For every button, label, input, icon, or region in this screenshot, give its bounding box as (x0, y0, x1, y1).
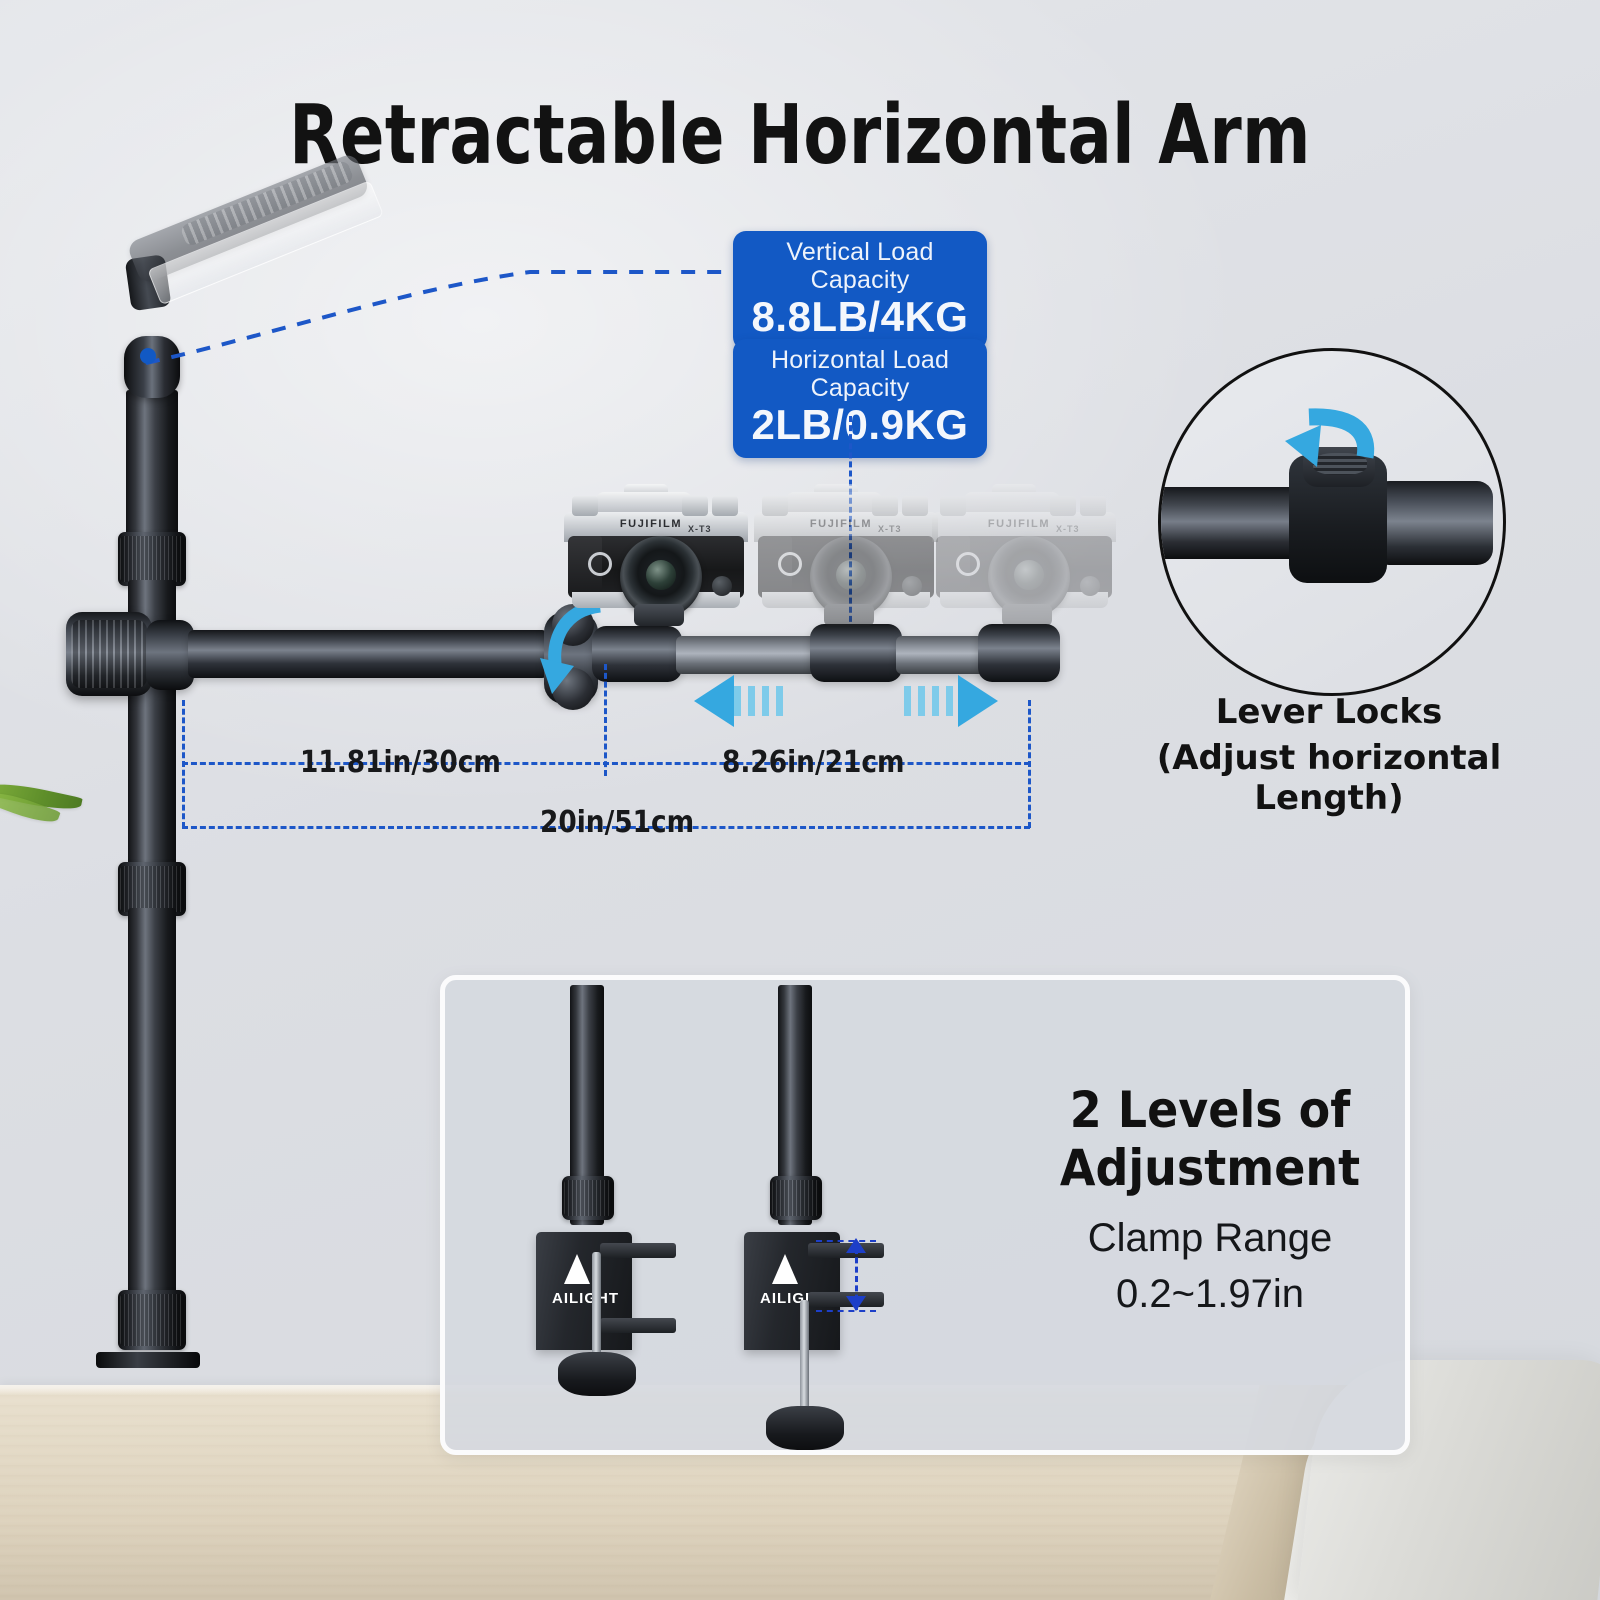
ailight-logo-icon (564, 1254, 590, 1284)
camera-brand-label: FUJIFILM (608, 518, 694, 530)
clamp-range-arrow-down-icon (846, 1296, 866, 1311)
badge-label: Horizontal Load Capacity (751, 346, 969, 402)
clamp1-collar[interactable] (562, 1176, 614, 1220)
camera-dial (682, 496, 708, 516)
camera-dial (1080, 496, 1106, 516)
camera-brand-label: FUJIFILM (798, 518, 884, 530)
camera-dial (762, 496, 788, 516)
arrow-trail-right (904, 686, 960, 716)
camera-tripod-mount (634, 604, 684, 626)
camera-rear-dial (902, 576, 922, 596)
camera-af-lamp (588, 552, 612, 576)
badge-horizontal-load: Horizontal Load Capacity 2LB/0.9KG (733, 339, 987, 458)
clamp1-bottom-jaw (600, 1318, 676, 1333)
lever-lock-zoom-inset (1158, 348, 1506, 696)
ailight-logo-icon (772, 1254, 798, 1284)
arm-pivot-knuckle[interactable] (146, 620, 194, 690)
twist-lock-collar-lower[interactable] (118, 1290, 186, 1350)
leader-line-vertical-load (110, 230, 790, 420)
dim-label-total: 20in/51cm (540, 805, 694, 840)
clamp2-screw[interactable] (800, 1300, 809, 1418)
camera-model-label: X-T3 (878, 524, 902, 534)
dim-tick-mid (604, 664, 607, 776)
camera-model-label: X-T3 (1056, 524, 1080, 534)
clamp2-collar[interactable] (770, 1176, 822, 1220)
camera-brand-label: FUJIFILM (976, 518, 1062, 530)
clamp2-tighten-knob[interactable] (766, 1406, 844, 1450)
clamp-range-tick-top (816, 1240, 876, 1242)
camera-position-extended: FUJIFILM X-T3 (930, 492, 1118, 624)
inset-rotate-arrow-icon (1261, 401, 1381, 531)
clamp1-screw[interactable] (592, 1252, 601, 1364)
camera-position-front: FUJIFILM X-T3 (562, 492, 750, 624)
camera-dial (902, 496, 928, 516)
twist-lock-collar-upper[interactable] (118, 532, 186, 586)
card-sub-line1: Clamp Range (1010, 1212, 1410, 1264)
lever-lock-caption-line2: (Adjust horizontal Length) (1128, 738, 1530, 818)
arrow-extend-right-icon (958, 675, 998, 727)
plant-leaf-decoration (0, 782, 96, 816)
clamp1-brand-label: AILIGHT (552, 1290, 619, 1307)
lever-lock-caption-line1: Lever Locks (1158, 692, 1500, 732)
camera-rear-dial (1080, 576, 1100, 596)
camera-tripod-mount (1002, 604, 1052, 626)
camera-position-middle: FUJIFILM X-T3 (752, 492, 940, 624)
arrow-trail-left (734, 686, 790, 716)
card-heading-line2: Adjustment (1026, 1140, 1394, 1197)
camera-af-lamp (956, 552, 980, 576)
infographic-canvas: Retractable Horizontal Arm Vertical Load… (0, 0, 1600, 1600)
arm-collar-mid (810, 624, 902, 682)
card-sub-line2: 0.2~1.97in (1010, 1268, 1410, 1320)
dim-label-right-segment: 8.26in/21cm (722, 745, 905, 780)
card-heading-line1: 2 Levels of (1026, 1082, 1394, 1139)
camera-dial (940, 496, 966, 516)
clamp1-top-jaw (600, 1243, 676, 1258)
badge-label: Vertical Load Capacity (751, 238, 969, 294)
arm-collar-right (978, 624, 1060, 682)
camera-rear-dial (712, 576, 732, 596)
clamp1-tighten-knob[interactable] (558, 1352, 636, 1396)
badge-value: 8.8LB/4KG (751, 294, 969, 339)
camera-tripod-mount (824, 604, 874, 626)
camera-dial (1050, 496, 1076, 516)
camera-model-label: X-T3 (688, 524, 712, 534)
camera-dial (872, 496, 898, 516)
arm-segment-fixed (188, 630, 548, 678)
camera-af-lamp (778, 552, 802, 576)
dim-label-left-segment: 11.81in/30cm (300, 745, 501, 780)
arm-segment-telescoping-a (676, 636, 822, 674)
camera-dial (712, 496, 738, 516)
badge-vertical-load: Vertical Load Capacity 8.8LB/4KG (733, 231, 987, 350)
arrow-retract-left-icon (694, 675, 734, 727)
leader-anchor-dot (140, 348, 156, 364)
clamp-range-tick-bottom (816, 1310, 876, 1312)
arm-lock-knob[interactable] (66, 612, 152, 696)
camera-dial (572, 496, 598, 516)
pole-section-lower (128, 908, 176, 1306)
badge-value: 2LB/0.9KG (751, 402, 969, 447)
pole-base-foot (96, 1352, 200, 1368)
inset-arm-collar (1373, 481, 1493, 565)
